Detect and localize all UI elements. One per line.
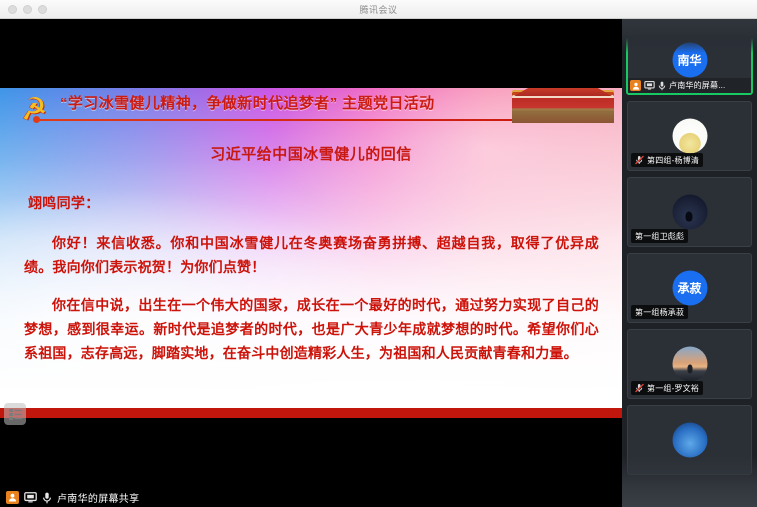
- microphone-icon: [658, 81, 666, 91]
- screen-share-icon: [24, 492, 37, 503]
- window-titlebar: 腾讯会议: [0, 0, 757, 19]
- slide-paragraph-2: 你在信中说，出生在一个伟大的国家，成长在一个最好的时代，通过努力实现了自己的梦想…: [24, 293, 599, 365]
- avatar: [672, 347, 707, 382]
- presentation-slide: ☭ “学习冰雪健儿精神，争做新时代追梦者” 主题党日活动 习近平给中国冰雪健儿的…: [0, 88, 622, 418]
- participant-tile[interactable]: 第一组-罗文裕: [627, 329, 752, 399]
- participant-name: 第一组-罗文裕: [647, 383, 699, 394]
- party-emblem-icon: ☭: [10, 90, 58, 130]
- participant-tile[interactable]: [627, 405, 752, 475]
- slide-paragraph-1: 你好！来信收悉。你和中国冰雪健儿在冬奥赛场奋勇拼搏、超越自我，取得了优异成绩。我…: [24, 231, 599, 279]
- participant-tile[interactable]: 第一组卫彪彪: [627, 177, 752, 247]
- list-menu-icon[interactable]: [4, 403, 26, 425]
- avatar: [672, 195, 707, 230]
- tile-label: 第一组杨承菽: [631, 305, 688, 319]
- shared-screen-stage[interactable]: ☭ “学习冰雪健儿精神，争做新时代追梦者” 主题党日活动 习近平给中国冰雪健儿的…: [0, 19, 622, 507]
- avatar: 承菽: [672, 271, 707, 306]
- avatar: [672, 119, 707, 154]
- banner-rule-decoration: [36, 119, 512, 121]
- participant-name: 卢南华的屏幕...: [669, 80, 725, 91]
- tile-label: 第一组卫彪彪: [631, 229, 688, 243]
- participant-name: 第四组-杨博清: [647, 155, 699, 166]
- participant-rail[interactable]: 南华: [622, 19, 757, 507]
- tencent-meeting-window: 腾讯会议 ☭ “学习冰雪健儿精神，争做新时代追梦者” 主题党日活动 习近平给中国…: [0, 0, 757, 507]
- participant-name: 第一组卫彪彪: [635, 231, 684, 242]
- person-icon: [6, 491, 19, 504]
- slide-salutation: 翊鸣同学：: [28, 193, 100, 213]
- slide-bottom-accent-bar: [0, 408, 622, 418]
- avatar: [672, 423, 707, 458]
- participant-tile[interactable]: 承菽 第一组杨承菽: [627, 253, 752, 323]
- tile-label: 第四组-杨博清: [631, 153, 703, 167]
- microphone-icon: [42, 492, 52, 504]
- slide-headline: 习近平给中国冰雪健儿的回信: [0, 143, 622, 164]
- screen-share-icon: [644, 81, 655, 90]
- person-icon: [630, 80, 641, 91]
- meeting-content: ☭ “学习冰雪健儿精神，争做新时代追梦者” 主题党日活动 习近平给中国冰雪健儿的…: [0, 19, 757, 507]
- microphone-muted-icon: [635, 155, 644, 165]
- tiananmen-icon: [512, 90, 614, 123]
- slide-banner: ☭ “学习冰雪健儿精神，争做新时代追梦者” 主题党日活动: [0, 88, 622, 134]
- tile-label: 第一组-罗文裕: [631, 381, 703, 395]
- microphone-muted-icon: [635, 383, 644, 393]
- slide-banner-title: “学习冰雪健儿精神，争做新时代追梦者” 主题党日活动: [60, 92, 500, 113]
- participant-tile-sharer[interactable]: 南华: [626, 25, 753, 95]
- window-title: 腾讯会议: [0, 3, 757, 16]
- participant-name: 第一组杨承菽: [635, 307, 684, 318]
- share-status-bar: 卢南华的屏幕共享: [0, 488, 622, 507]
- avatar: 南华: [672, 43, 707, 78]
- tile-label: 卢南华的屏幕...: [628, 78, 751, 93]
- participant-tile[interactable]: 第四组-杨博清: [627, 101, 752, 171]
- participant-list: 南华: [622, 19, 757, 481]
- share-status-text: 卢南华的屏幕共享: [57, 490, 139, 505]
